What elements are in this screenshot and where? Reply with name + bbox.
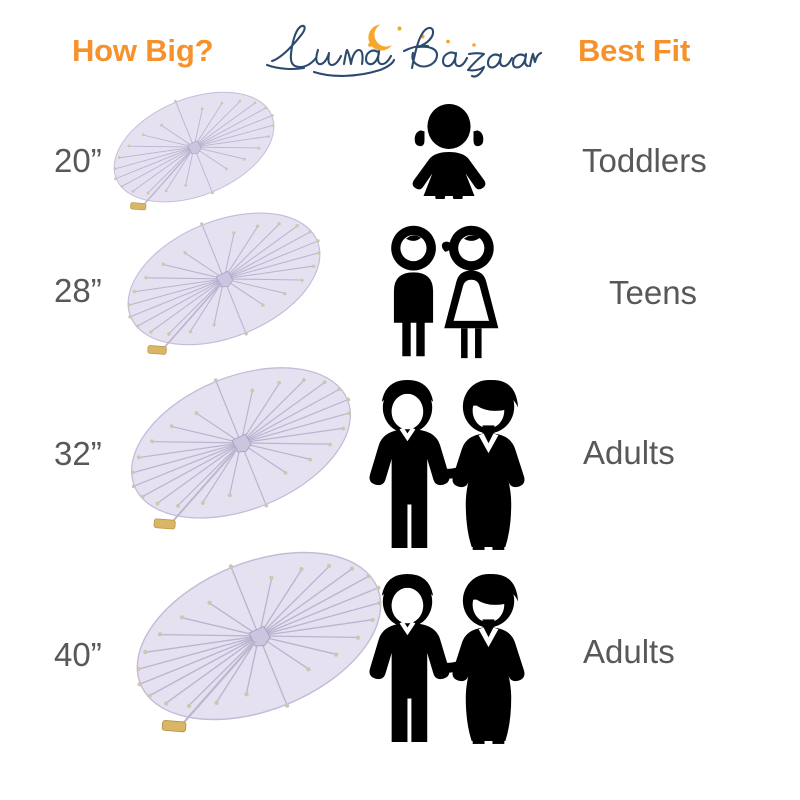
fit-label: Toddlers <box>582 142 707 180</box>
pictogram-teen-couple <box>378 222 518 360</box>
fit-label: Adults <box>583 434 675 472</box>
brand-logo <box>262 18 542 80</box>
size-label: 28” <box>54 272 102 310</box>
parasol-image-32 <box>112 362 370 540</box>
pictogram-adult-couple <box>362 566 530 744</box>
size-label: 20” <box>54 142 102 180</box>
size-label: 40” <box>54 636 102 674</box>
parasol-image-40 <box>115 546 403 744</box>
fit-label: Adults <box>583 633 675 671</box>
column-header-how-big: How Big? <box>72 33 213 69</box>
parasol-image-20 <box>104 88 284 218</box>
pictogram-adult-couple <box>362 372 530 550</box>
parasol-image-28 <box>110 208 338 364</box>
column-header-best-fit: Best Fit <box>578 33 690 69</box>
size-guide-infographic: How Big? <box>0 0 800 800</box>
pictogram-toddler-girl <box>400 101 498 199</box>
fit-label: Teens <box>609 274 697 312</box>
size-label: 32” <box>54 435 102 473</box>
crescent-moon-icon <box>368 25 392 51</box>
